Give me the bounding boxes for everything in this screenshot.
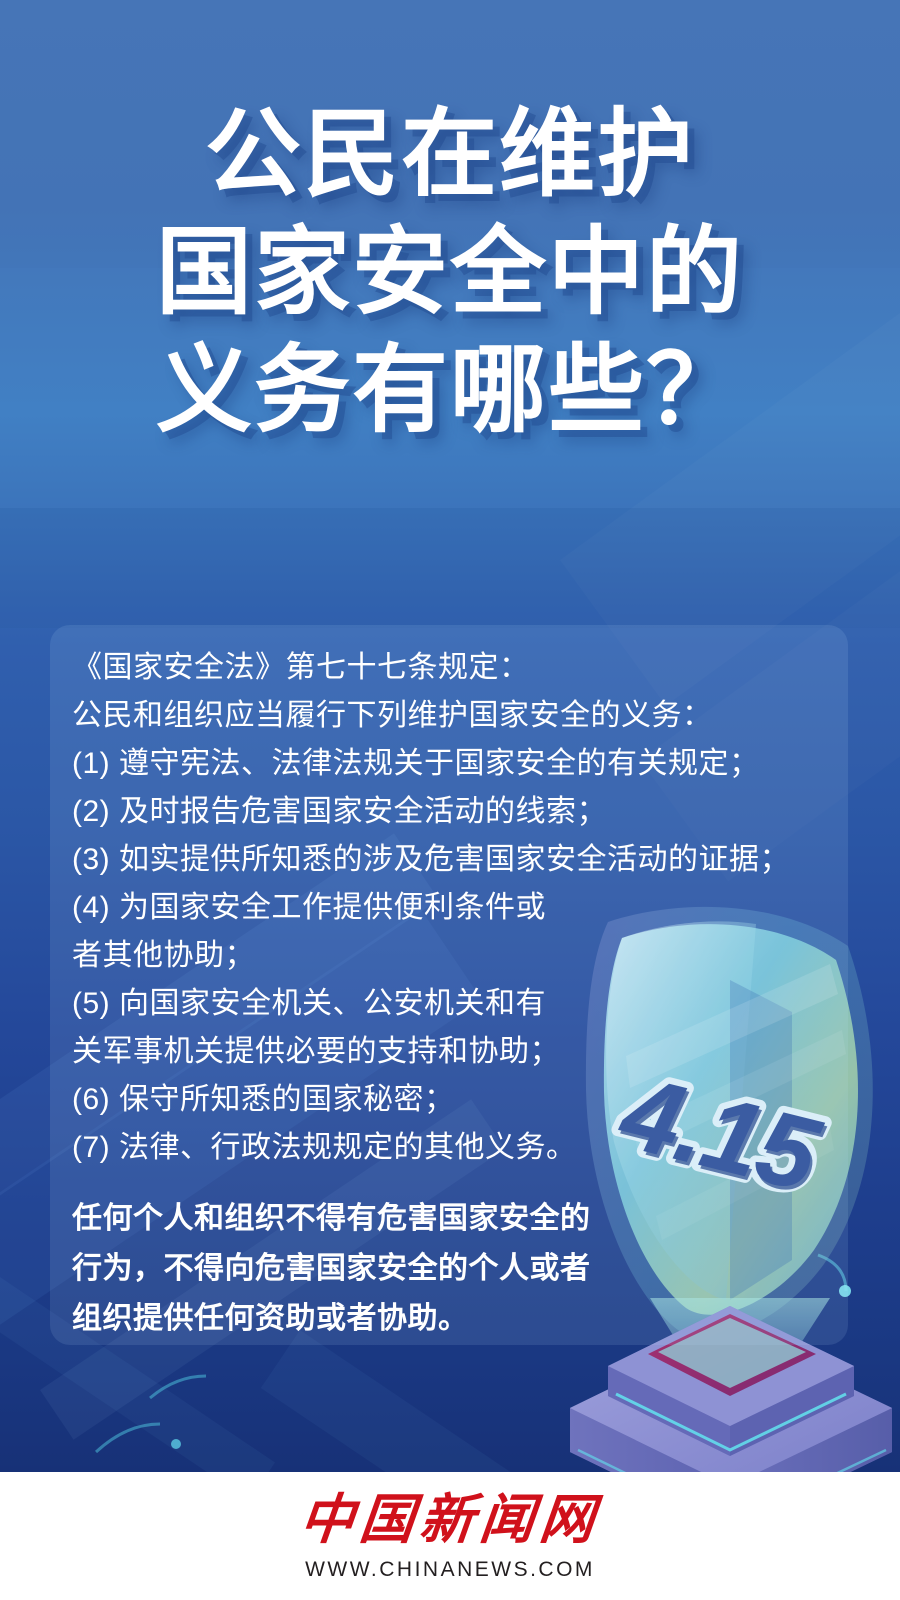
body-line: 公民和组织应当履行下列维护国家安全的义务：: [72, 692, 862, 740]
body-line: (6) 保守所知悉的国家秘密；: [72, 1076, 862, 1124]
body-line: (1) 遵守宪法、法律法规关于国家安全的有关规定；: [72, 740, 862, 788]
content-text-block: 《国家安全法》第七十七条规定： 公民和组织应当履行下列维护国家安全的义务： (1…: [72, 644, 862, 1344]
emphasis-paragraph: 任何个人和组织不得有危害国家安全的 行为，不得向危害国家安全的个人或者 组织提供…: [72, 1194, 862, 1344]
body-line: (3) 如实提供所知悉的涉及危害国家安全活动的证据；: [72, 836, 862, 884]
emphasis-line: 任何个人和组织不得有危害国家安全的: [72, 1194, 862, 1244]
emphasis-line: 行为，不得向危害国家安全的个人或者: [72, 1244, 862, 1294]
body-line: 者其他协助；: [72, 932, 862, 980]
poster-title: 公民在维护 国家安全中的 义务有哪些？: [0, 96, 900, 450]
body-line: 《国家安全法》第七十七条规定：: [72, 644, 862, 692]
poster-root: 公民在维护 国家安全中的 义务有哪些？: [0, 0, 900, 1600]
chinanews-logo: 中国新闻网: [297, 1490, 603, 1550]
emphasis-line: 组织提供任何资助或者协助。: [72, 1294, 862, 1344]
body-line: (2) 及时报告危害国家安全活动的线索；: [72, 788, 862, 836]
footer: 中国新闻网 WWW.CHINANEWS.COM: [0, 1472, 900, 1600]
title-line-2: 国家安全中的: [0, 214, 900, 332]
chinanews-url: WWW.CHINANEWS.COM: [305, 1558, 595, 1582]
title-line-1: 公民在维护: [0, 96, 900, 214]
body-line: (4) 为国家安全工作提供便利条件或: [72, 884, 862, 932]
body-line: 关军事机关提供必要的支持和协助；: [72, 1028, 862, 1076]
title-line-3: 义务有哪些？: [0, 332, 900, 450]
body-line: (5) 向国家安全机关、公安机关和有: [72, 980, 862, 1028]
body-line: (7) 法律、行政法规规定的其他义务。: [72, 1124, 862, 1172]
